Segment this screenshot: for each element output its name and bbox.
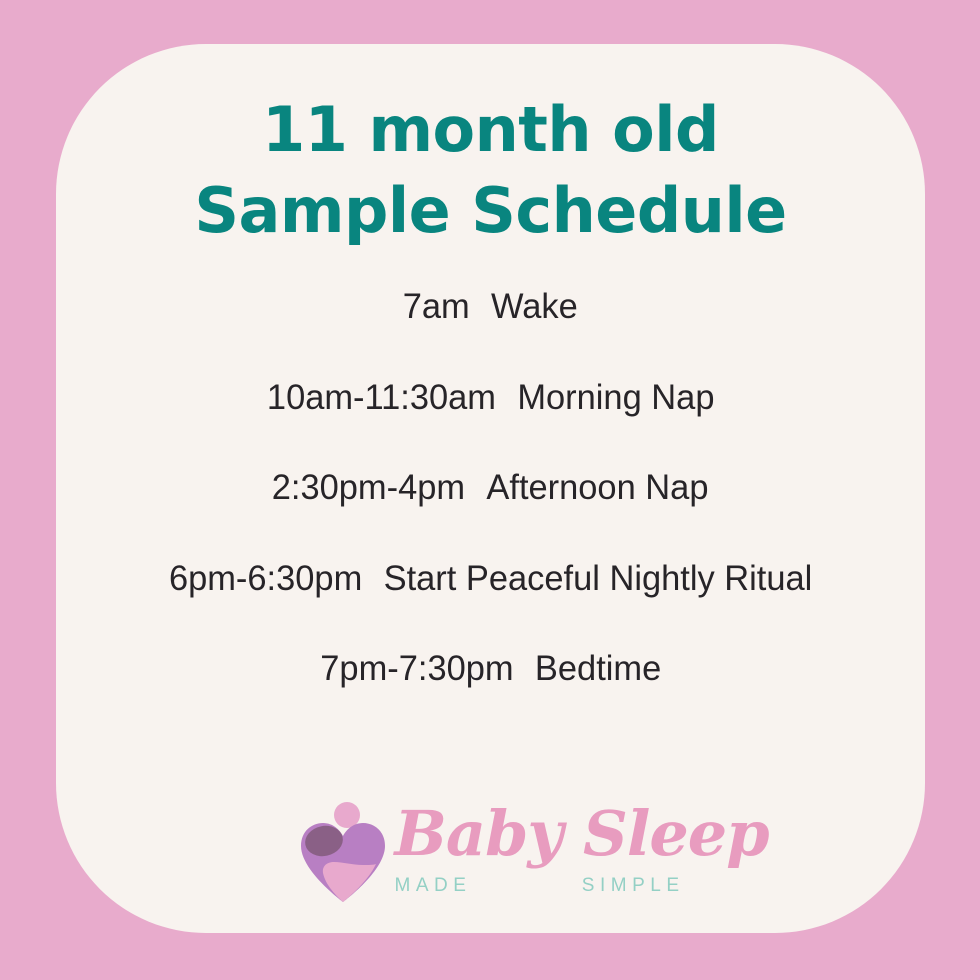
schedule-time: 7am (403, 286, 470, 326)
schedule-time: 7pm-7:30pm (320, 648, 513, 688)
logo-tagline: MADE SIMPLE (395, 876, 685, 895)
schedule-row: 10am-11:30amMorning Nap (267, 380, 715, 416)
schedule-activity: Wake (491, 286, 578, 326)
schedule-row: 7amWake (403, 289, 578, 325)
logo-wordmark: Baby Sleep MADE SIMPLE (395, 801, 685, 905)
schedule-activity: Afternoon Nap (487, 467, 709, 507)
logo-script-text: Baby Sleep (395, 803, 685, 865)
schedule-row: 6pm-6:30pmStart Peaceful Nightly Ritual (169, 561, 812, 597)
schedule-row: 7pm-7:30pmBedtime (320, 651, 661, 687)
schedule-time: 6pm-6:30pm (169, 558, 362, 598)
brand-logo: Baby Sleep MADE SIMPLE (56, 801, 925, 905)
title-line-2: Sample Schedule (194, 171, 786, 252)
schedule-card: 11 month old Sample Schedule 7amWake 10a… (56, 44, 925, 933)
title-line-1: 11 month old (194, 90, 786, 171)
schedule-activity: Morning Nap (517, 377, 714, 417)
page-title: 11 month old Sample Schedule (194, 90, 786, 251)
schedule-list: 7amWake 10am-11:30amMorning Nap 2:30pm-4… (56, 289, 925, 687)
heart-mother-and-baby-icon (297, 801, 389, 905)
poster-canvas: 11 month old Sample Schedule 7amWake 10a… (0, 0, 980, 980)
schedule-row: 2:30pm-4pmAfternoon Nap (272, 470, 709, 506)
schedule-activity: Bedtime (535, 648, 661, 688)
logo-tagline-simple: SIMPLE (582, 876, 685, 895)
schedule-activity: Start Peaceful Nightly Ritual (383, 558, 812, 598)
logo-tagline-made: MADE (395, 876, 472, 895)
schedule-time: 10am-11:30am (267, 377, 496, 417)
schedule-time: 2:30pm-4pm (272, 467, 465, 507)
